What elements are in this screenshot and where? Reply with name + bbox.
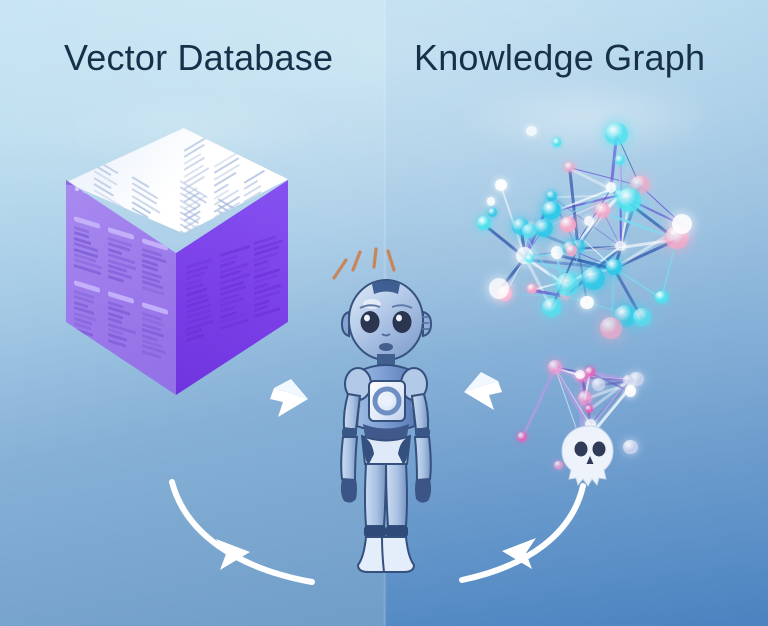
graph-node — [633, 308, 651, 326]
graph-node — [606, 182, 616, 192]
skull-icon — [506, 344, 674, 484]
robot-hand-left — [341, 479, 357, 503]
title-knowledge-graph: Knowledge Graph — [414, 40, 705, 76]
graph-node — [542, 298, 561, 317]
graph-node — [617, 188, 641, 212]
graph-node — [526, 126, 537, 137]
graph-node — [582, 267, 605, 290]
graph-node — [600, 317, 622, 339]
graph-node — [606, 259, 622, 275]
graph-node — [566, 245, 577, 256]
graph-node — [488, 208, 496, 216]
robot-hand-right — [415, 479, 431, 503]
graph-node — [672, 214, 692, 234]
graph-node — [553, 138, 562, 147]
ai-robot-character — [322, 248, 450, 586]
graph-node — [542, 201, 562, 221]
title-vector-database: Vector Database — [64, 40, 333, 76]
graph-node — [534, 219, 553, 238]
graph-node — [495, 179, 507, 191]
robot-foot-right — [382, 537, 414, 572]
knowledge-graph-skull-cluster — [506, 344, 674, 484]
graph-node — [487, 197, 495, 205]
graph-node — [477, 216, 491, 230]
graph-node — [655, 291, 668, 304]
graph-node — [605, 123, 627, 145]
infographic-canvas: Vector Database Knowledge Graph — [0, 0, 768, 626]
graph-node — [546, 191, 557, 202]
graph-node — [560, 217, 575, 232]
graph-node — [615, 155, 625, 165]
knowledge-graph-cluster — [448, 108, 710, 348]
graph-node — [564, 162, 574, 172]
graph-node — [615, 241, 625, 251]
graph-node — [489, 278, 509, 298]
graph-node — [556, 273, 579, 296]
graph-edge — [569, 167, 640, 186]
robot-figure — [322, 248, 450, 586]
vector-database-cube — [48, 128, 298, 398]
thinking-marks — [334, 249, 394, 278]
graph-node — [580, 296, 593, 309]
